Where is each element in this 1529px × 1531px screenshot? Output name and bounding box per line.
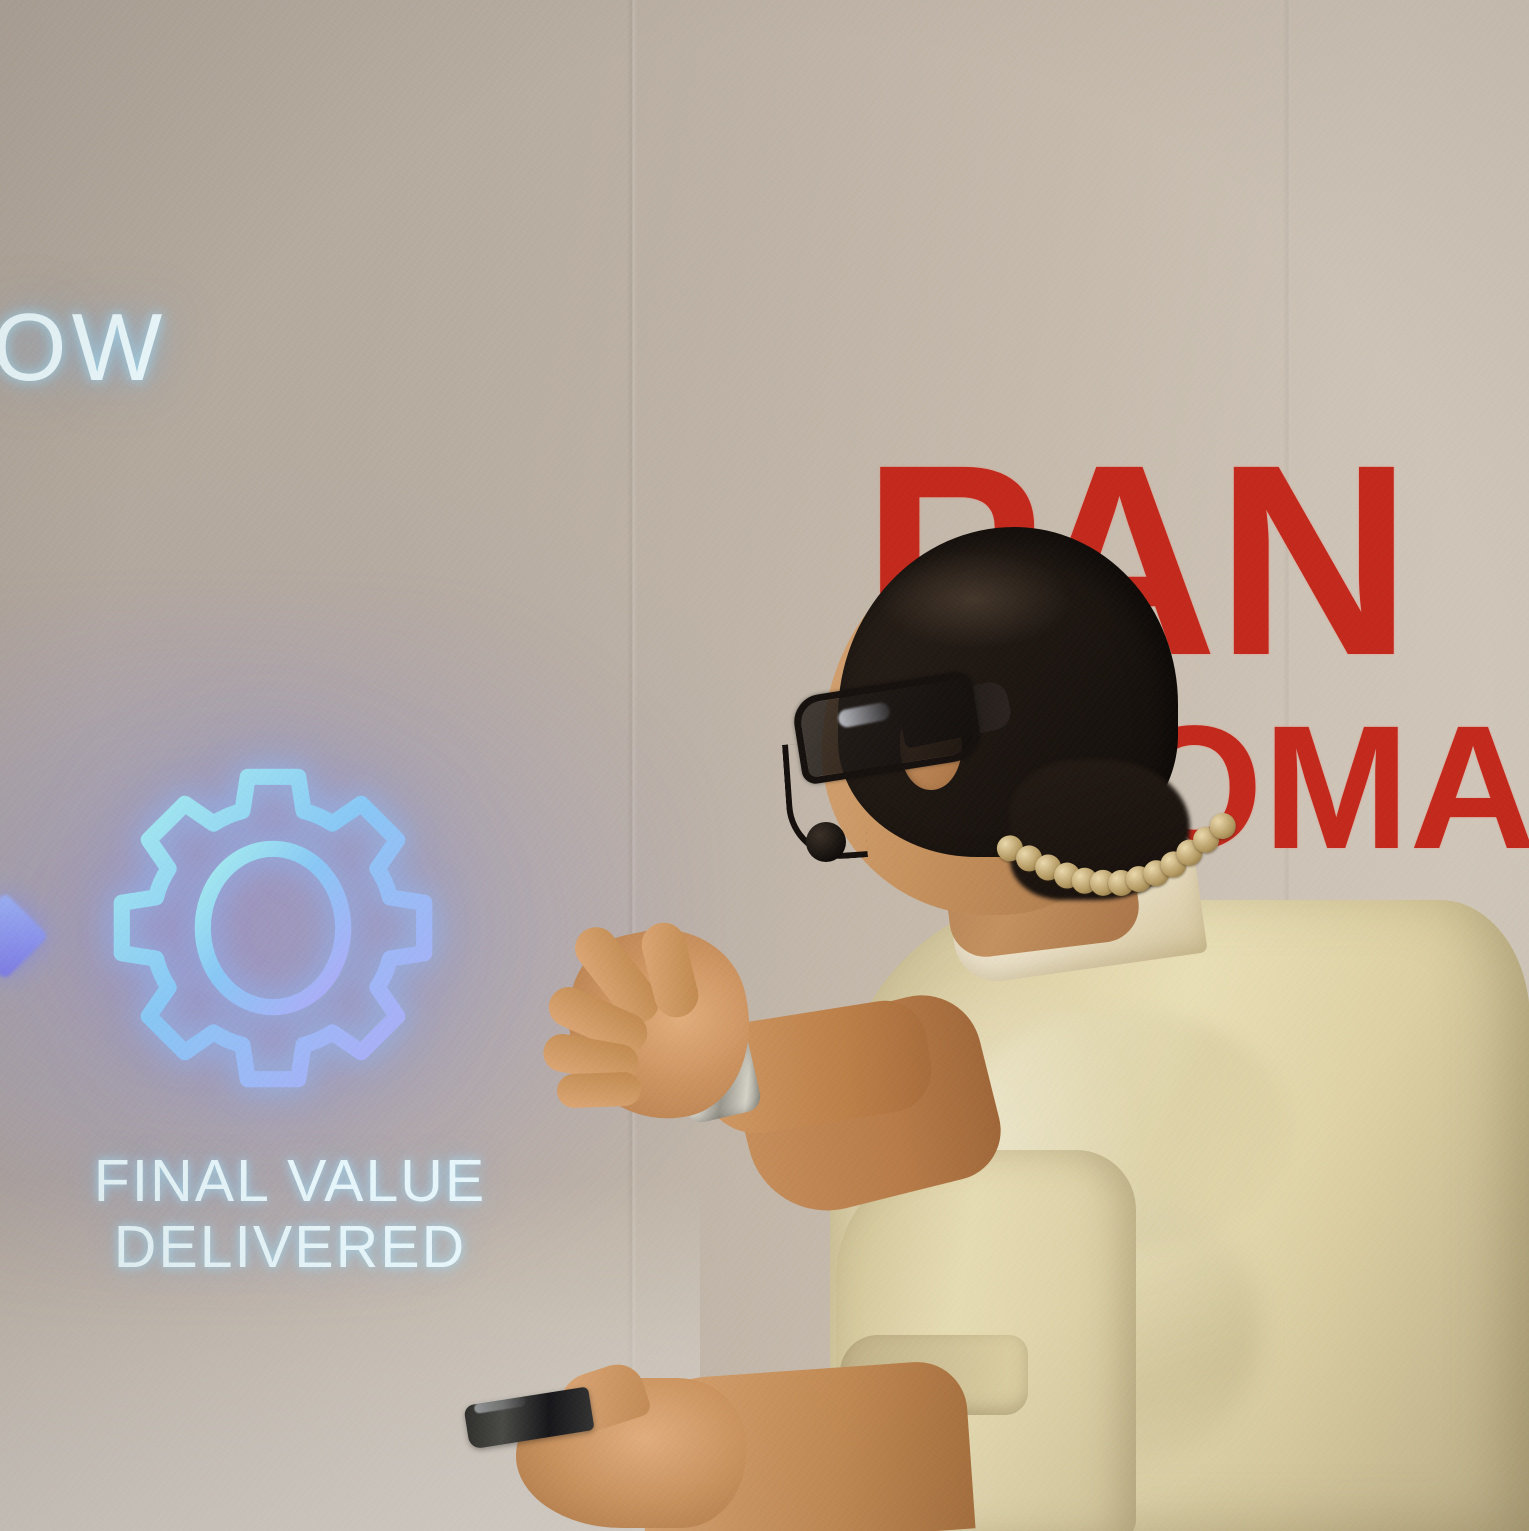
screenshot-root: OW FINAL VALUE DELIVERED PAN OMA Or Gol [0,0,1529,1531]
finger [556,1072,641,1109]
headset-microphone-capsule [806,822,846,862]
speaker-figure [0,0,1529,1531]
